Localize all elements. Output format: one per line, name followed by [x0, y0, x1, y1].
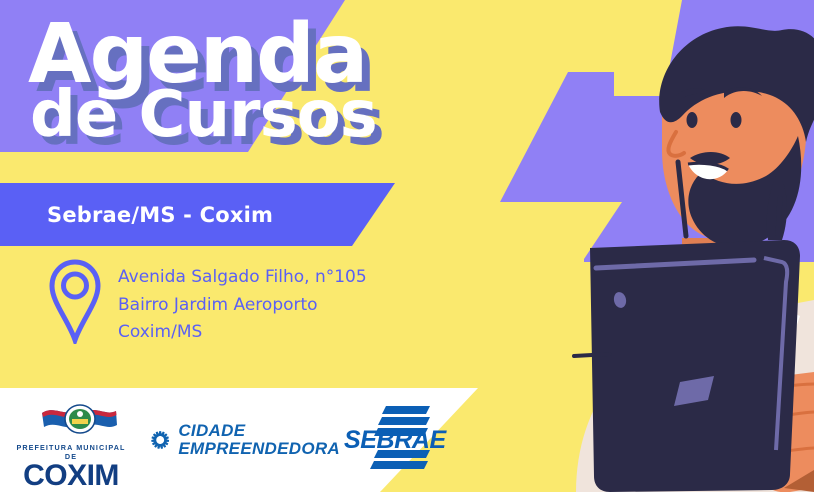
address-block: Avenida Salgado Filho, n°105 Bairro Jard…: [48, 258, 367, 347]
headline-line-2: de Cursos: [30, 90, 377, 141]
radial-sunburst-icon: [150, 409, 170, 471]
bearded-man-holding-tablet-illustration: [514, 0, 814, 492]
poster-canvas: Agenda de Cursos Sebrae/MS - Coxim Aveni…: [0, 0, 814, 492]
address-line-2: Bairro Jardim Aeroporto: [118, 292, 367, 320]
coxim-coat-of-arms-flag-icon: [12, 403, 130, 437]
address-line-1: Avenida Salgado Filho, n°105: [118, 264, 367, 292]
address-lines: Avenida Salgado Filho, n°105 Bairro Jard…: [118, 258, 367, 347]
logo-sebrae: SEBRAE: [338, 404, 468, 474]
unit-banner-label: Sebrae/MS - Coxim: [47, 203, 273, 227]
sebrae-wordmark: SEBRAE: [344, 426, 448, 454]
location-pin-icon: [48, 258, 102, 344]
cidade-empreendedora-wordmark: CIDADE EMPREENDEDORA: [178, 422, 340, 458]
sebrae-bars-icon: SEBRAE: [338, 404, 468, 474]
unit-banner: Sebrae/MS - Coxim: [0, 183, 395, 246]
logo-cidade-empreendedora: CIDADE EMPREENDEDORA: [150, 409, 340, 471]
address-line-3: Coxim/MS: [118, 319, 367, 347]
cidade-line-2: EMPREENDEDORA: [178, 440, 340, 458]
logo-prefeitura-coxim: PREFEITURA MUNICIPAL DE COXIM CAPITAL DO…: [12, 403, 130, 477]
coxim-wordmark: COXIM: [12, 461, 130, 491]
cidade-line-1: CIDADE: [178, 422, 340, 440]
page-title: Agenda de Cursos: [28, 22, 377, 141]
